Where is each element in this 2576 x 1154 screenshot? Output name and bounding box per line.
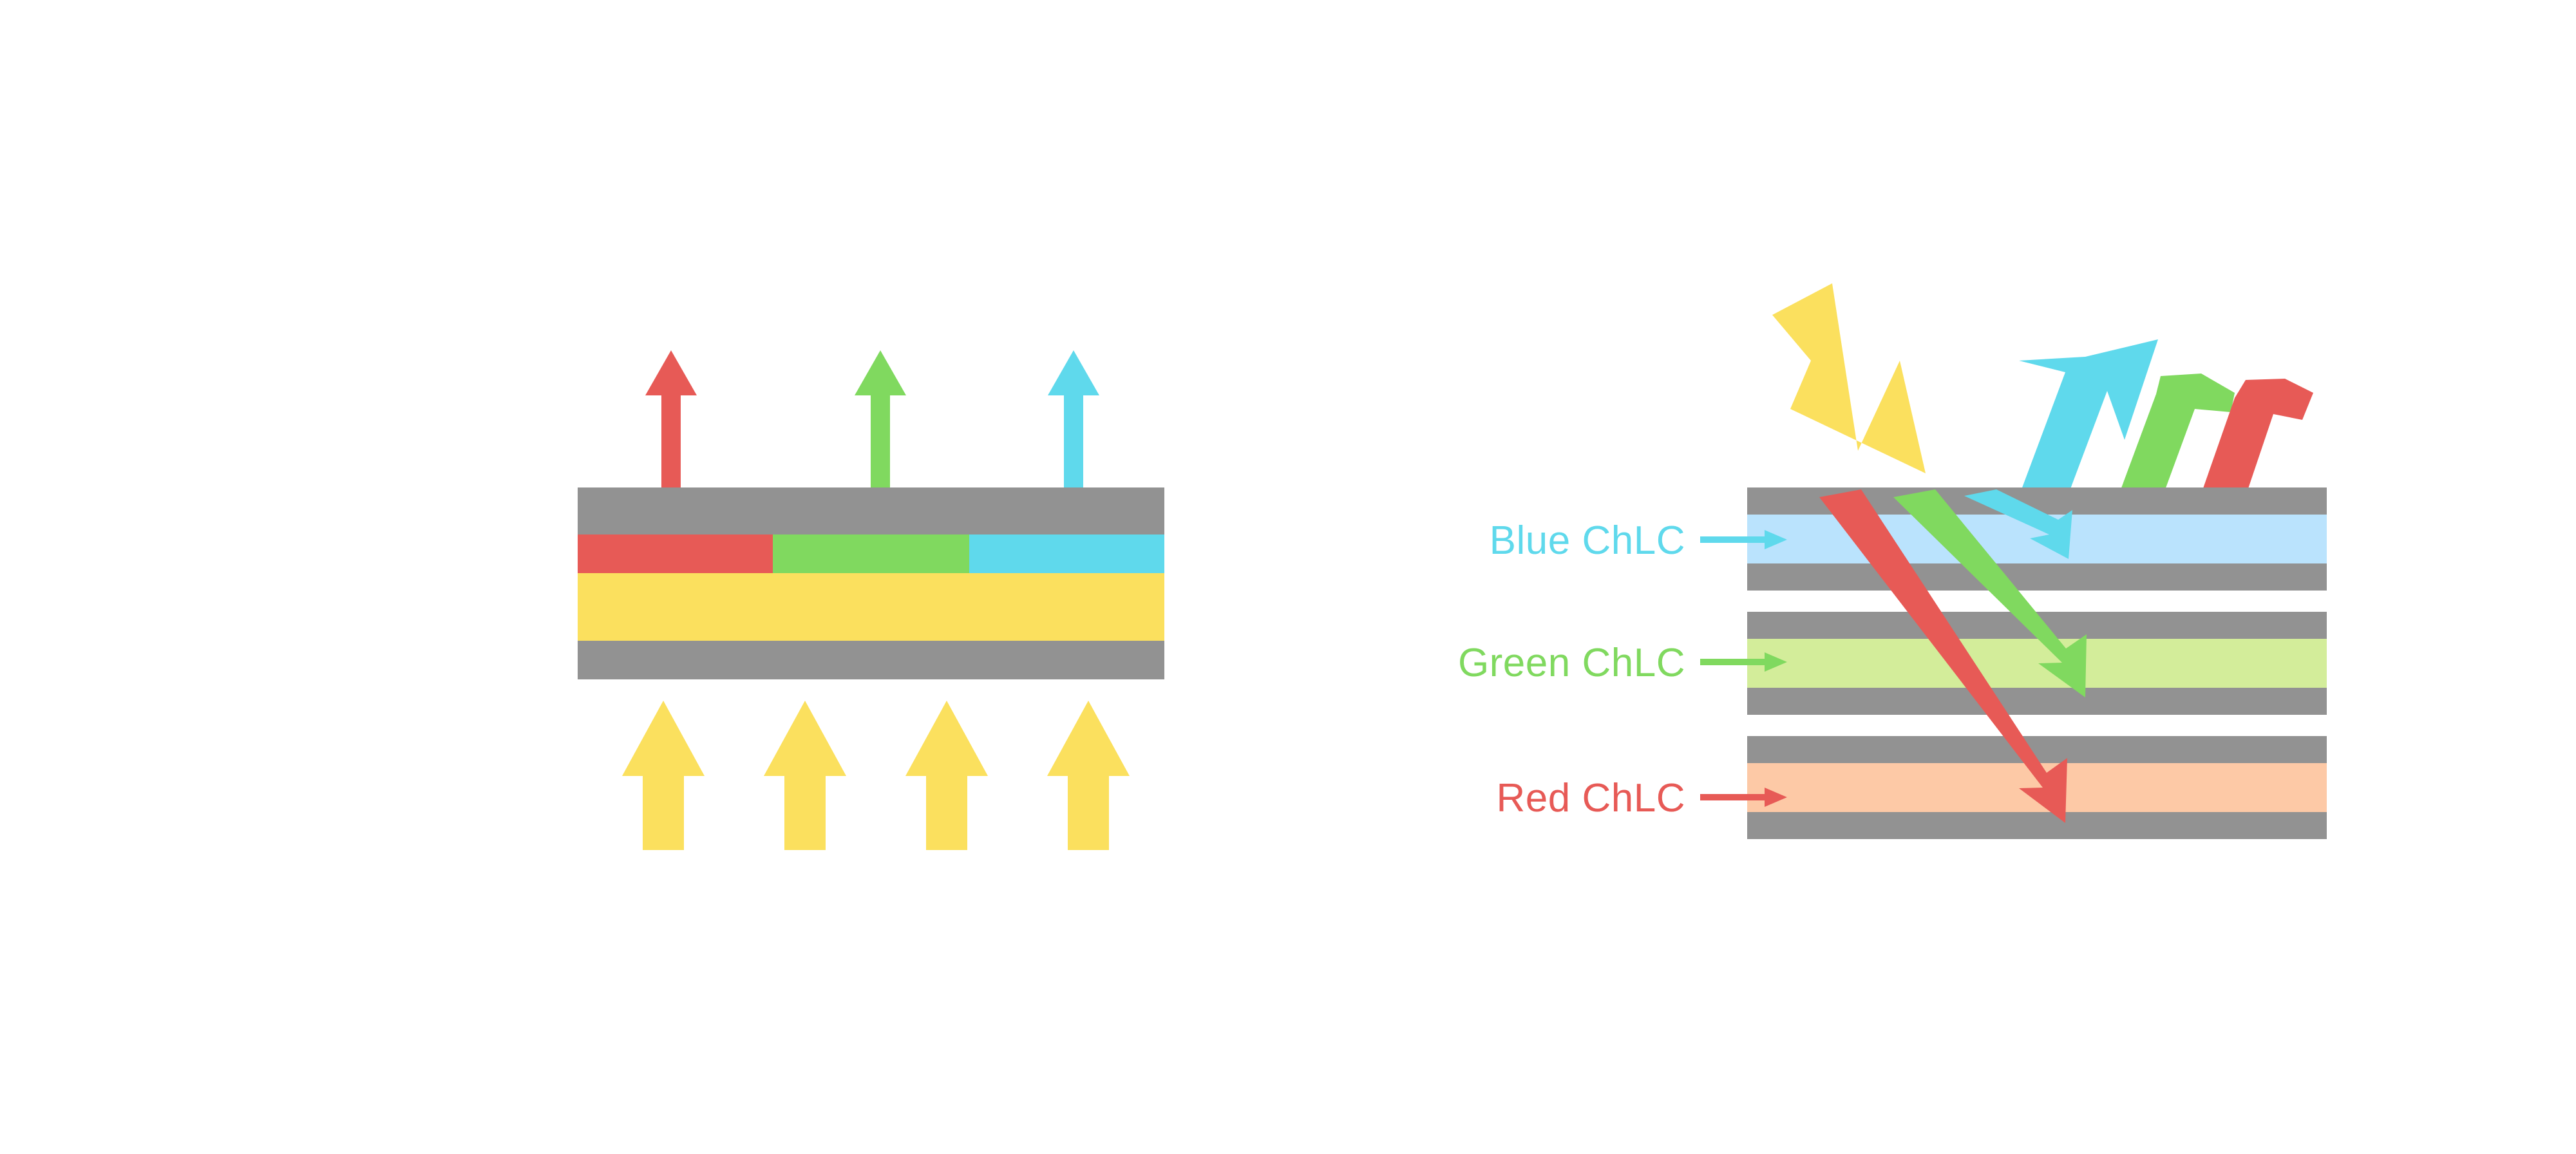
left-device-stack bbox=[578, 487, 1164, 679]
right-layer-blue-cell-bottom-electrode bbox=[1747, 563, 2327, 591]
chlc-diagram-svg: Blue ChLC Green ChLC Red ChLC bbox=[0, 0, 2576, 1154]
left-layer-bottom-electrode bbox=[578, 641, 1164, 679]
right-layer-green-chlc bbox=[1747, 639, 2327, 688]
right-layer-gap-1 bbox=[1747, 591, 2327, 612]
left-layer-color-filter-red bbox=[578, 534, 773, 573]
label-blue-chlc: Blue ChLC bbox=[1490, 518, 1685, 563]
right-layer-green-cell-bottom-electrode bbox=[1747, 688, 2327, 715]
diagram-canvas: Blue ChLC Green ChLC Red ChLC bbox=[0, 0, 2576, 1154]
left-layer-yellow-backlight bbox=[578, 573, 1164, 641]
label-red-chlc: Red ChLC bbox=[1497, 776, 1685, 820]
right-layer-red-cell-bottom-electrode bbox=[1747, 812, 2327, 839]
left-layer-color-filter-green bbox=[773, 534, 969, 573]
left-layer-color-filter-cyan bbox=[969, 534, 1164, 573]
left-layer-top-electrode bbox=[578, 487, 1164, 534]
right-layer-gap-2 bbox=[1747, 715, 2327, 736]
label-green-chlc: Green ChLC bbox=[1458, 641, 1685, 685]
